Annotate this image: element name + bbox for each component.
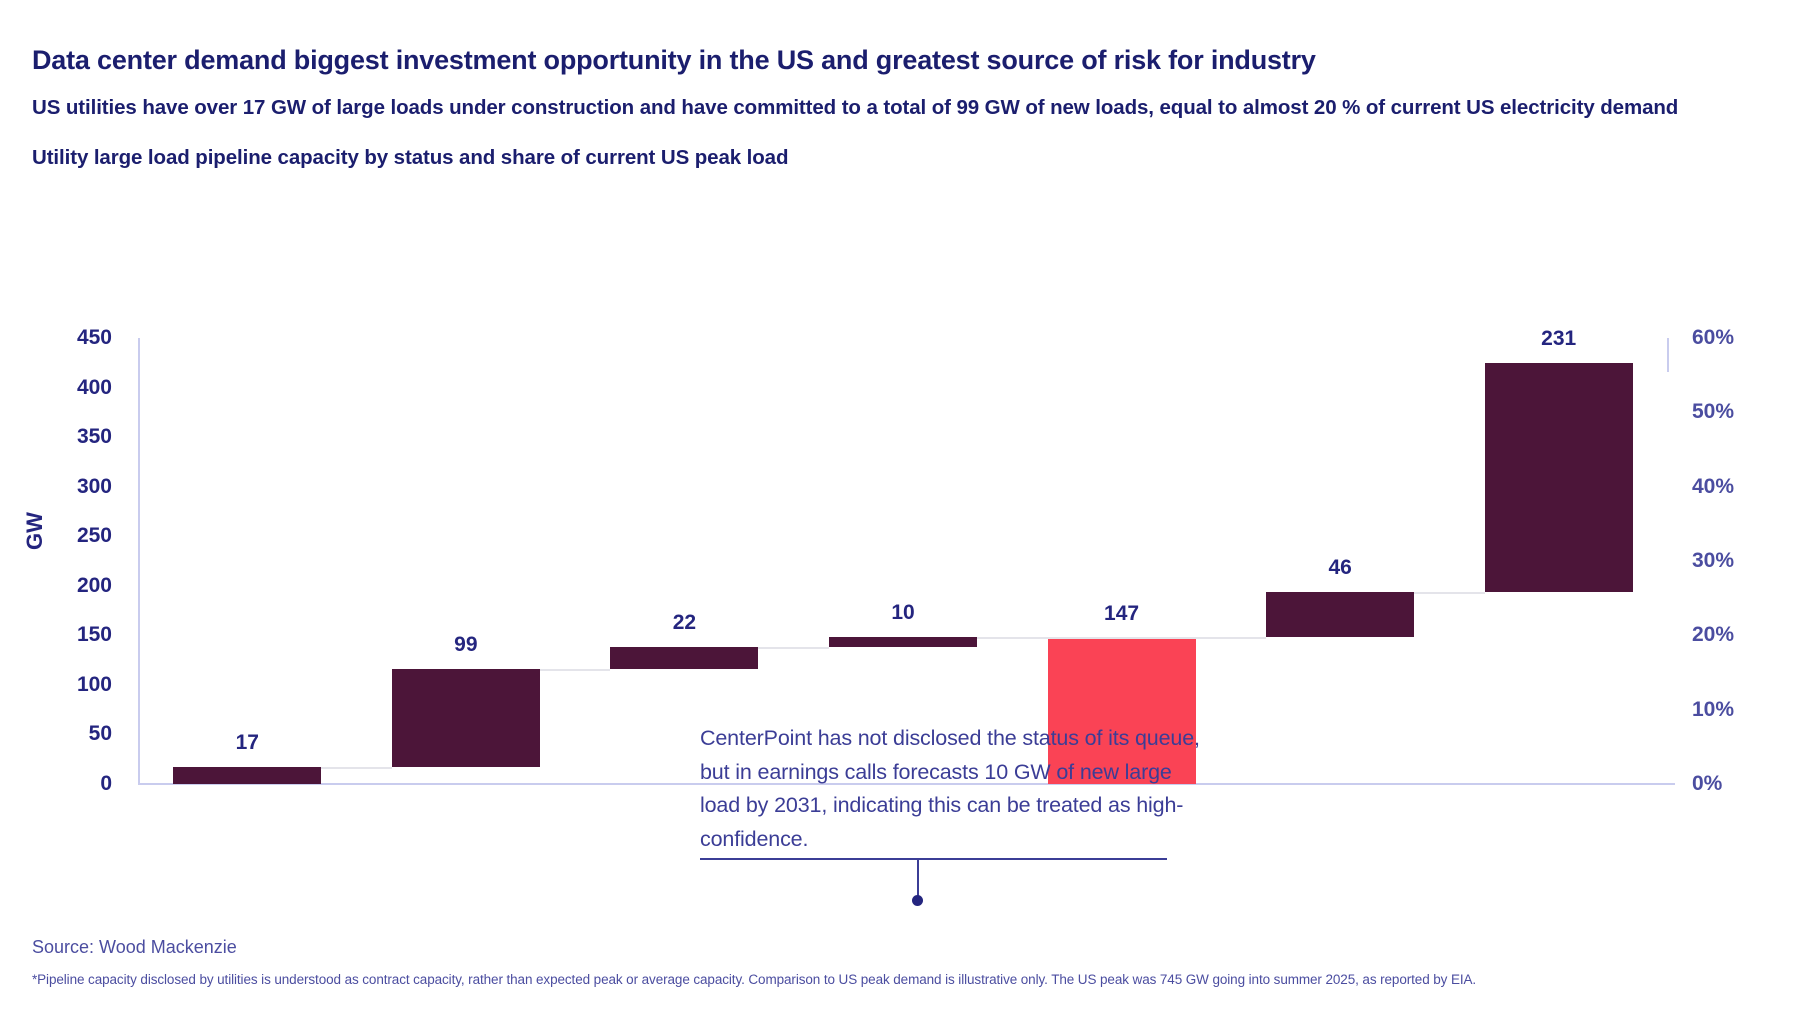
y-tick-right: 60% [1692,326,1734,350]
y-tick-left: 100 [77,673,112,697]
annotation-underline [700,858,1167,860]
annotation-callout: CenterPoint has not disclosed the status… [700,722,1200,856]
bar-centerpoint-undisclosed[interactable] [829,637,977,647]
y-tick-left: 50 [89,722,112,746]
y-tick-left: 250 [77,524,112,548]
chart-heading: Utility large load pipeline capacity by … [32,146,1772,170]
source-text: Source: Wood Mackenzie [32,937,237,958]
y-tick-right: 0% [1692,772,1722,796]
waterfall-connector [1414,592,1485,594]
bar-value-label: 46 [1328,556,1351,580]
y-tick-right: 20% [1692,623,1734,647]
bar-value-label: 99 [454,633,477,657]
page-subtitle: US utilities have over 17 GW of large lo… [32,92,1772,124]
y-tick-left: 300 [77,475,112,499]
bar-construction[interactable] [173,767,321,784]
y-axis-title: GW [22,512,48,550]
footnote-text: *Pipeline capacity disclosed by utilitie… [32,972,1476,987]
bar-value-label: 22 [673,611,696,635]
y-tick-right: 10% [1692,698,1734,722]
y-tick-right: 40% [1692,475,1734,499]
annotation-text: CenterPoint has not disclosed the status… [700,722,1200,856]
bar-value-label: 17 [236,731,259,755]
bar-committed[interactable] [392,669,540,767]
y-axis-line-left [138,338,140,784]
y-tick-left: 400 [77,376,112,400]
bar-advanced-discussion[interactable] [610,647,758,669]
y-tick-left: 350 [77,425,112,449]
bar-uncommitted[interactable] [1485,363,1633,592]
y-tick-left: 200 [77,574,112,598]
bar-value-label: 231 [1541,327,1576,351]
y-tick-left: 0 [100,772,112,796]
waterfall-connector [977,637,1266,639]
bar-undisclosed[interactable] [1266,592,1414,638]
waterfall-connector [758,647,829,649]
y-tick-left: 150 [77,623,112,647]
bar-value-label: 147 [1104,602,1139,626]
y-axis-line-right [1667,338,1669,372]
header-block: Data center demand biggest investment op… [32,44,1772,170]
bar-value-label: 10 [891,601,914,625]
y-tick-left: 450 [77,326,112,350]
annotation-anchor-dot [912,895,923,906]
chart-page: Data center demand biggest investment op… [0,0,1800,1012]
waterfall-connector [321,767,392,769]
chart-container: GW 050100150200250300350400450 0%10%20%3… [0,300,1800,860]
y-tick-right: 50% [1692,400,1734,424]
y-tick-right: 30% [1692,549,1734,573]
waterfall-connector [540,669,611,671]
page-title: Data center demand biggest investment op… [32,44,1772,76]
